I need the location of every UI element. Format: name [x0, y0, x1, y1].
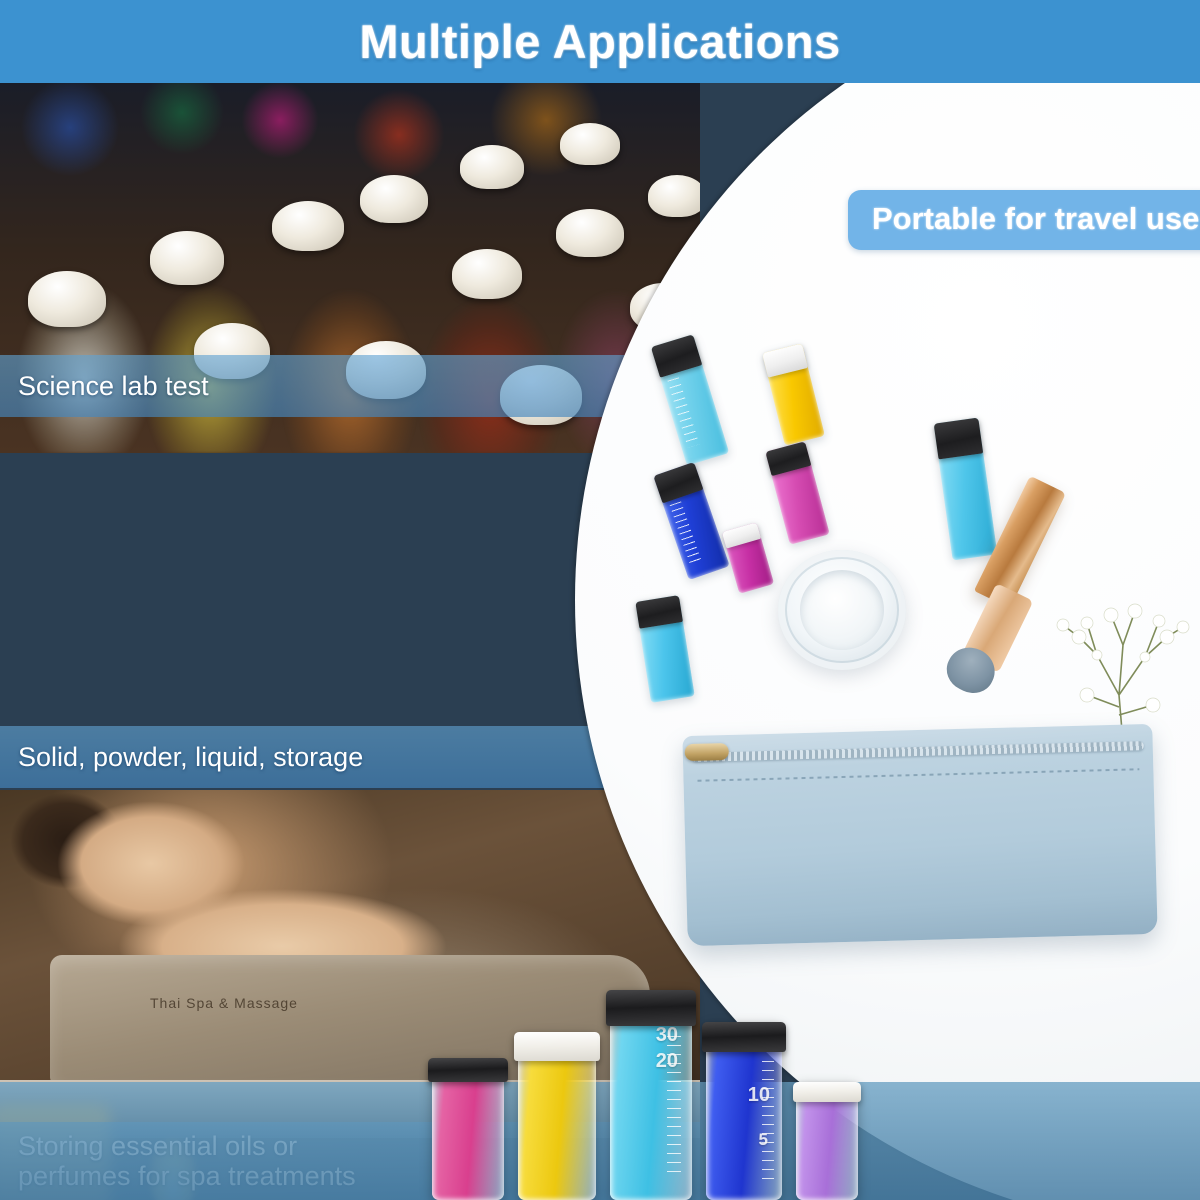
vial-blue-dark — [653, 462, 729, 580]
bottle-graduation-10: 10 — [748, 1084, 770, 1107]
bottle-graduation-30: 30 — [656, 1024, 678, 1047]
portable-badge-label: Portable for travel use — [872, 201, 1199, 237]
bottle-cyan: 30 20 — [610, 990, 692, 1200]
dried-flowers-icon — [1027, 545, 1200, 745]
vial-magenta — [765, 441, 829, 544]
pouch-zipper — [692, 741, 1143, 762]
caption-text: Science lab test — [18, 371, 700, 401]
vial-blue-tall — [934, 418, 998, 561]
bottle-graduation-5: 5 — [759, 1130, 768, 1150]
foreground-bottles-row: 30 20 10 5 — [0, 940, 1200, 1200]
glass-jar — [778, 550, 906, 670]
vial-cyan-lower — [635, 595, 694, 703]
bottle-violet — [796, 1082, 858, 1200]
bottle-graduation-20: 20 — [656, 1050, 678, 1073]
vial-cyan-large — [651, 334, 729, 465]
page-title: Multiple Applications — [359, 14, 840, 69]
vial-magenta-small — [722, 522, 774, 593]
bottle-pink — [432, 1058, 504, 1200]
pouch-zipper-pull — [685, 743, 729, 761]
vial-yellow — [762, 343, 825, 445]
bottle-blue: 10 5 — [706, 1022, 782, 1200]
pouch-seam — [698, 768, 1140, 782]
caption-science-lab: Science lab test — [0, 355, 700, 417]
product-marketing-image: Multiple Applications — [0, 0, 1200, 1200]
canvas-pouch — [682, 724, 1157, 946]
bottle-yellow — [518, 1032, 596, 1200]
header-banner: Multiple Applications — [0, 0, 1200, 83]
portable-badge: Portable for travel use — [848, 190, 1200, 250]
